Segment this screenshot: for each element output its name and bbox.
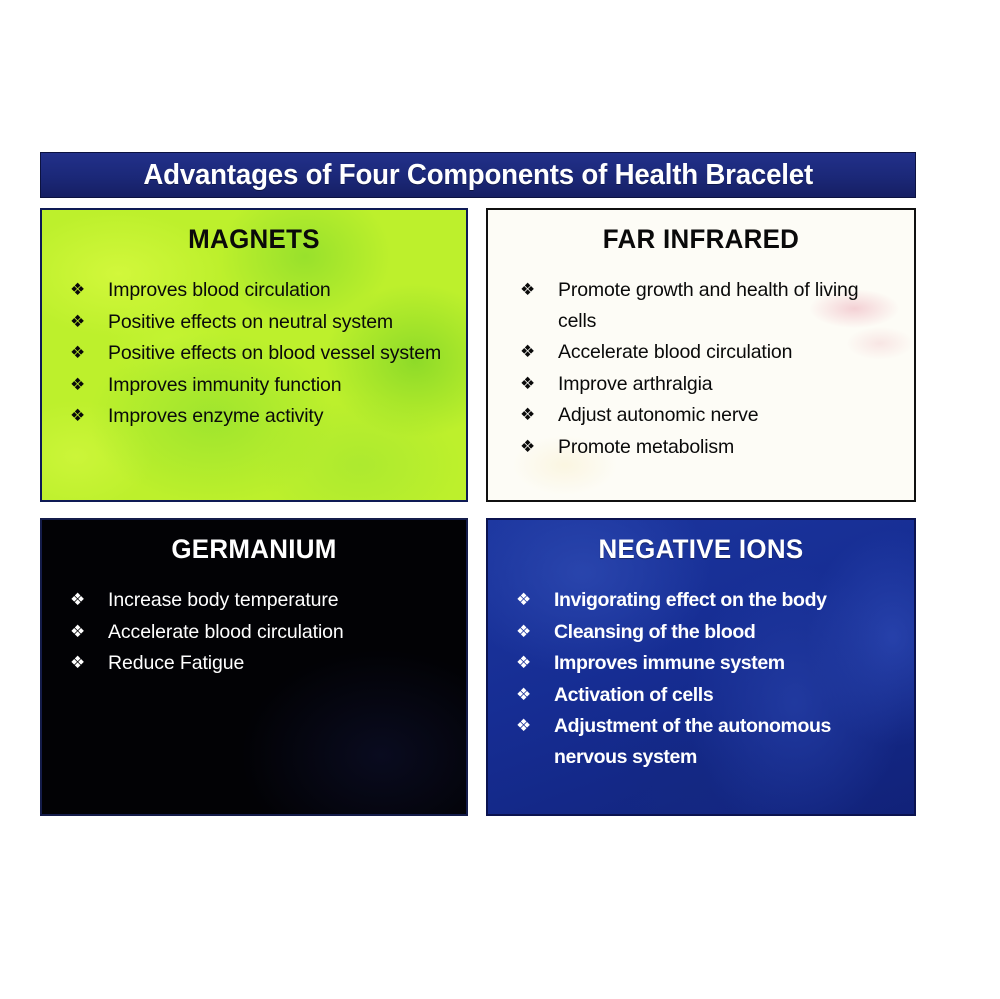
panel-far-infrared: FAR INFRARED ❖ Promote growth and health… bbox=[486, 208, 916, 502]
diamond-bullet-icon: ❖ bbox=[516, 617, 540, 648]
list-item-label: Promote growth and health of living cell… bbox=[558, 279, 858, 332]
panel-title-negative-ions: NEGATIVE IONS bbox=[510, 534, 892, 565]
magnets-benefit-list: ❖ Improves blood circulation ❖ Positive … bbox=[56, 275, 452, 432]
list-item: ❖ Invigorating effect on the body bbox=[516, 585, 896, 616]
panel-negative-ions: NEGATIVE IONS ❖ Invigorating effect on t… bbox=[486, 518, 916, 816]
list-item-label: Improve arthralgia bbox=[558, 373, 712, 395]
diamond-bullet-icon: ❖ bbox=[520, 337, 544, 368]
diamond-bullet-icon: ❖ bbox=[516, 711, 540, 742]
diamond-bullet-icon: ❖ bbox=[520, 369, 544, 400]
panel-germanium: GERMANIUM ❖ Increase body temperature ❖ … bbox=[40, 518, 468, 816]
diamond-bullet-icon: ❖ bbox=[70, 401, 94, 432]
list-item-label: Accelerate blood circulation bbox=[108, 621, 344, 643]
list-item-label: Promote metabolism bbox=[558, 436, 734, 458]
list-item-label: Accelerate blood circulation bbox=[558, 341, 792, 363]
diamond-bullet-icon: ❖ bbox=[520, 432, 544, 463]
negative-ions-content: NEGATIVE IONS ❖ Invigorating effect on t… bbox=[488, 520, 914, 814]
list-item-label: Cleansing of the blood bbox=[554, 621, 755, 643]
list-item: ❖ Adjustment of the autonomous nervous s… bbox=[516, 711, 896, 772]
page-title: Advantages of Four Components of Health … bbox=[143, 159, 813, 192]
far-infrared-benefit-list: ❖ Promote growth and health of living ce… bbox=[502, 275, 900, 462]
list-item: ❖ Positive effects on neutral system bbox=[70, 307, 448, 338]
list-item: ❖ Activation of cells bbox=[516, 680, 896, 711]
diamond-bullet-icon: ❖ bbox=[70, 648, 94, 679]
panel-title-magnets: MAGNETS bbox=[64, 224, 444, 255]
list-item: ❖ Improves blood circulation bbox=[70, 275, 448, 306]
list-item-label: Adjustment of the autonomous nervous sys… bbox=[554, 715, 831, 768]
magnets-content: MAGNETS ❖ Improves blood circulation ❖ P… bbox=[42, 210, 466, 500]
list-item: ❖ Promote metabolism bbox=[520, 432, 896, 463]
list-item: ❖ Accelerate blood circulation bbox=[70, 617, 448, 648]
list-item: ❖ Cleansing of the blood bbox=[516, 617, 896, 648]
diamond-bullet-icon: ❖ bbox=[70, 585, 94, 616]
list-item-label: Improves immunity function bbox=[108, 374, 341, 396]
list-item-label: Improves immune system bbox=[554, 652, 785, 674]
diamond-bullet-icon: ❖ bbox=[520, 400, 544, 431]
germanium-content: GERMANIUM ❖ Increase body temperature ❖ … bbox=[42, 520, 466, 814]
list-item-label: Increase body temperature bbox=[108, 589, 339, 611]
panel-magnets: MAGNETS ❖ Improves blood circulation ❖ P… bbox=[40, 208, 468, 502]
list-item-label: Invigorating effect on the body bbox=[554, 589, 827, 611]
list-item: ❖ Improve arthralgia bbox=[520, 369, 896, 400]
diamond-bullet-icon: ❖ bbox=[70, 370, 94, 401]
list-item: ❖ Reduce Fatigue bbox=[70, 648, 448, 679]
list-item: ❖ Improves immunity function bbox=[70, 370, 448, 401]
diamond-bullet-icon: ❖ bbox=[516, 648, 540, 679]
negative-ions-benefit-list: ❖ Invigorating effect on the body ❖ Clea… bbox=[502, 585, 900, 772]
list-item-label: Improves blood circulation bbox=[108, 279, 331, 301]
diamond-bullet-icon: ❖ bbox=[516, 680, 540, 711]
list-item-label: Improves enzyme activity bbox=[108, 405, 323, 427]
diamond-bullet-icon: ❖ bbox=[70, 307, 94, 338]
list-item: ❖ Increase body temperature bbox=[70, 585, 448, 616]
diamond-bullet-icon: ❖ bbox=[520, 275, 544, 306]
panel-grid: MAGNETS ❖ Improves blood circulation ❖ P… bbox=[40, 208, 916, 816]
list-item: ❖ Adjust autonomic nerve bbox=[520, 400, 896, 431]
list-item-label: Reduce Fatigue bbox=[108, 652, 244, 674]
panel-title-germanium: GERMANIUM bbox=[64, 534, 444, 565]
diamond-bullet-icon: ❖ bbox=[70, 338, 94, 369]
diamond-bullet-icon: ❖ bbox=[516, 585, 540, 616]
list-item: ❖ Promote growth and health of living ce… bbox=[520, 275, 896, 336]
list-item-label: Positive effects on neutral system bbox=[108, 311, 393, 333]
list-item: ❖ Improves enzyme activity bbox=[70, 401, 448, 432]
infographic-root: Advantages of Four Components of Health … bbox=[0, 0, 1000, 999]
list-item: ❖ Accelerate blood circulation bbox=[520, 337, 896, 368]
list-item-label: Positive effects on blood vessel system bbox=[108, 342, 441, 364]
list-item: ❖ Improves immune system bbox=[516, 648, 896, 679]
infographic-title-bar: Advantages of Four Components of Health … bbox=[40, 152, 916, 198]
far-infrared-content: FAR INFRARED ❖ Promote growth and health… bbox=[488, 210, 914, 500]
germanium-benefit-list: ❖ Increase body temperature ❖ Accelerate… bbox=[56, 585, 452, 679]
diamond-bullet-icon: ❖ bbox=[70, 617, 94, 648]
list-item-label: Adjust autonomic nerve bbox=[558, 404, 758, 426]
panel-title-far-infrared: FAR INFRARED bbox=[510, 224, 892, 255]
list-item-label: Activation of cells bbox=[554, 684, 713, 706]
list-item: ❖ Positive effects on blood vessel syste… bbox=[70, 338, 448, 369]
diamond-bullet-icon: ❖ bbox=[70, 275, 94, 306]
